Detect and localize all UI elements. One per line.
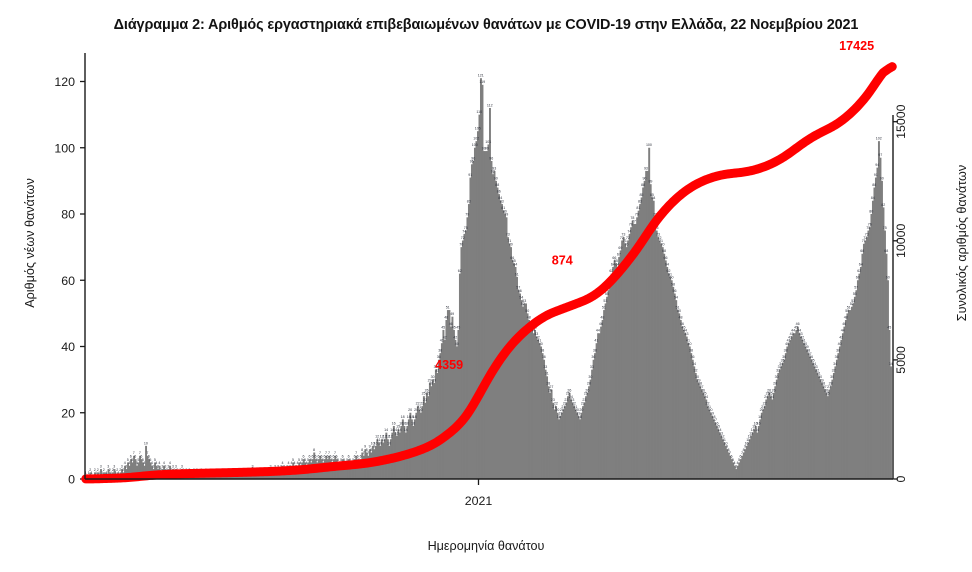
bar-value-label: 4 [169,461,171,465]
bar-value-label: 26 [567,388,571,392]
bar-value-label: 16 [757,421,761,425]
bar-value-label: 24 [704,395,708,399]
bar-value-label: 32 [832,368,836,372]
bar-value-label: 20 [419,408,423,412]
bar-value-label: 38 [689,349,693,353]
bar-value-label: 25 [426,392,430,396]
bar-value-label: 36 [782,355,786,359]
bar-value-label: 4 [128,461,130,465]
bar-value-label: 34 [889,362,893,366]
bar-value-label: 67 [617,252,621,256]
bar-value-label: 56 [672,289,676,293]
bar-value-label: 42 [839,335,843,339]
bar-value-label: 18 [758,415,762,419]
bar-value-label: 6 [312,455,314,459]
bar-value-label: 43 [684,332,688,336]
bar-value-label: 34 [833,362,837,366]
bar-value-label: 48 [444,315,448,319]
bar-value-label: 68 [860,249,864,253]
bar-value-label: 10 [144,441,148,445]
bar-value-label: 77 [632,219,636,223]
bar-value-label: 30 [830,375,834,379]
bar-value-label: 28 [587,382,591,386]
bar-value-label: 3 [152,464,154,468]
bar-value-label: 74 [627,229,631,233]
bar-value-label: 88 [641,183,645,187]
bar-value-label: 105 [475,127,481,131]
bar-value-label: 53 [522,299,526,303]
bar-value-label: 14 [404,428,408,432]
bar-value-label: 46 [796,322,800,326]
bar-value-label: 72 [626,236,630,240]
x-axis-ticks: 2021 [465,479,493,508]
y-tick-label-left: 20 [61,406,75,420]
bar-value-label: 81 [636,206,640,210]
bar-value-label: 22 [554,402,558,406]
bar-value-label: 18 [401,415,405,419]
bar-value-label: 6 [360,455,362,459]
y-tick-label-right: 5000 [894,346,908,374]
bar-value-label: 91 [468,173,472,177]
bar-value-label: 69 [618,246,622,250]
bar-value-label: 80 [869,209,873,213]
bar-value-label: 100 [646,143,652,147]
bar-value-label: 50 [677,309,681,313]
bar-value-label: 70 [459,243,463,247]
bar-value-label: 48 [600,315,604,319]
bar-value-label: 14 [398,428,402,432]
bar-value-label: 34 [692,362,696,366]
bar-value-label: 16 [392,421,396,425]
bar-value-label: 84 [651,196,655,200]
bar-value-label: 64 [859,262,863,266]
bar-value-label: 44 [841,329,845,333]
bar-value-label: 55 [853,292,857,296]
bar-value-label: 54 [674,296,678,300]
bar [890,366,892,479]
bar-value-label: 36 [835,355,839,359]
bar-value-label: 25 [826,392,830,396]
bar-value-label: 90 [880,176,884,180]
bar-value-label: 60 [886,276,890,280]
bar-value-label: 48 [844,315,848,319]
bar-value-label: 42 [453,335,457,339]
bar-value-label: 38 [836,349,840,353]
bar-value-label: 79 [635,213,639,217]
bar-value-label: 76 [868,223,872,227]
bar-value-label: 46 [842,322,846,326]
bar-value-label: 20 [408,408,412,412]
bar-value-label: 86 [497,190,501,194]
bar-value-label: 14 [755,428,759,432]
y-tick-label-right: 15000 [894,104,908,139]
bar-value-label: 46 [599,322,603,326]
bar-value-label: 57 [854,286,858,290]
bar-value-label: 72 [461,236,465,240]
bar-value-label: 45 [887,325,891,329]
bar-value-label: 24 [770,395,774,399]
bar-value-label: 23 [564,398,568,402]
chart-container: Διάγραμμα 2: Αριθμός εργαστηριακά επιβεβ… [0,0,972,572]
bar-value-label: 73 [621,233,625,237]
bar-value-label: 88 [872,183,876,187]
bar-value-label: 14 [384,428,388,432]
bar-value-label: 73 [865,233,869,237]
bar-value-label: 64 [665,262,669,266]
y-tick-label-left: 60 [61,274,75,288]
bar-value-label: 18 [413,415,417,419]
bar-value-label: 3 [100,464,102,468]
bar-value-label: 16 [405,421,409,425]
bar-value-label: 119 [479,80,485,84]
bar-value-label: 53 [851,299,855,303]
bar-value-label: 70 [660,243,664,247]
bar-series [85,78,893,479]
bar-value-label: 90 [642,176,646,180]
bar-value-label: 33 [543,365,547,369]
y-axis-right-ticks: 050001000015000 [893,104,908,482]
bar-value-label: 31 [545,372,549,376]
bar-value-label: 50 [525,309,529,313]
bar-value-label: 40 [539,342,543,346]
bar-value-label: 33 [590,365,594,369]
cumulative-annotation: 874 [552,254,573,268]
bar-value-label: 45 [452,325,456,329]
chart-plot-area: 020406080100120 050001000015000 11212121… [0,0,972,572]
bar-value-label: 48 [678,315,682,319]
bar-value-label: 55 [605,292,609,296]
bar-value-label: 110 [476,110,482,114]
y-tick-label-left: 0 [68,473,75,487]
bar-value-label: 51 [446,305,450,309]
bar-value-label: 51 [602,305,606,309]
bar-value-label: 112 [487,103,493,107]
bar-value-label: 60 [669,276,673,280]
bar-value-label: 40 [688,342,692,346]
bar-value-label: 83 [638,199,642,203]
bar-value-label: 96 [471,156,475,160]
bar-value-label: 91 [874,173,878,177]
cumulative-annotation: 17425 [839,39,874,53]
bar-value-label: 3 [113,464,115,468]
bar-value-label: 64 [513,262,517,266]
bar-value-label: 93 [644,166,648,170]
cumulative-annotation: 4359 [435,358,463,372]
bar-value-label: 36 [591,355,595,359]
bar-value-label: 22 [763,402,767,406]
bar-value-label: 44 [596,329,600,333]
bar-value-label: 36 [691,355,695,359]
bar-value-label: 18 [578,415,582,419]
bar-value-label: 20 [579,408,583,412]
bar-value-label: 70 [624,243,628,247]
bar-value-label: 28 [829,382,833,386]
bar-value-label: 66 [663,256,667,260]
bar-value-label: 7 [367,451,369,455]
bar-value-label: 30 [588,375,592,379]
bar-value-label: 45 [441,325,445,329]
y-tick-label-left: 100 [54,141,75,155]
bar-value-label: 2 [103,468,105,472]
bar-value-label: 96 [489,156,493,160]
bar-value-label: 45 [456,325,460,329]
bar-value-label: 83 [467,199,471,203]
bar-value-label: 49 [450,312,454,316]
bar-value-label: 38 [593,349,597,353]
bar-value-label: 82 [881,203,885,207]
bar-value-label: 29 [432,378,436,382]
bar-value-label: 7 [363,451,365,455]
y-tick-label-right: 10000 [894,223,908,258]
x-tick-label: 2021 [465,494,493,508]
bar-value-label: 53 [603,299,607,303]
bar-value-label: 5 [131,458,133,462]
bar-value-label: 48 [527,315,531,319]
bar-value-label: 70 [509,243,513,247]
bar-value-label: 73 [506,233,510,237]
bar-value-label: 99 [485,146,489,150]
bar-value-label: 58 [671,282,675,286]
bar-value-label: 41 [594,339,598,343]
y-axis-left-ticks: 020406080100120 [54,75,85,487]
bar-value-label: 102 [473,137,479,141]
bar-value-label: 68 [662,249,666,253]
bar-value-label: 38 [540,349,544,353]
bar-value-label: 8 [313,448,315,452]
bar-value-label: 88 [495,183,499,187]
bar-value-label: 84 [871,196,875,200]
y-tick-label-left: 120 [54,75,75,89]
bar-value-label: 36 [542,355,546,359]
bar-value-label: 28 [773,382,777,386]
bar-value-label: 38 [784,349,788,353]
bar-value-label: 40 [838,342,842,346]
bar-value-label: 26 [772,388,776,392]
bar-value-label: 23 [423,398,427,402]
bar-value-label: 12 [389,435,393,439]
bar-value-label: 68 [884,249,888,253]
bar-value-label: 38 [438,349,442,353]
y-tick-label-left: 80 [61,208,75,222]
bar-value-label: 79 [465,213,469,217]
bar-value-label: 27 [549,385,553,389]
y-tick-label-left: 40 [61,340,75,354]
bar-value-label: 101 [485,140,491,144]
bar-value-label: 4 [143,461,145,465]
bar-value-label: 8 [370,448,372,452]
bar-value-label: 32 [694,368,698,372]
bar-value-label: 93 [492,166,496,170]
bar-value-label: 5 [137,458,139,462]
bar-value-label: 16 [411,421,415,425]
y-tick-label-right: 0 [894,475,908,482]
bar-value-label: 4 [158,461,160,465]
bar-value-label: 90 [494,176,498,180]
bar-value-label: 62 [458,269,462,273]
bar-value-label: 30 [775,375,779,379]
bar-value-label: 121 [478,74,484,78]
bar-value-label: 85 [639,193,643,197]
bar-value-label: 56 [518,289,522,293]
bar-value-label: 94 [875,163,879,167]
bar-value-label: 75 [464,226,468,230]
bar-value-label: 10 [387,441,391,445]
bar-value-label: 26 [585,388,589,392]
bar-value-label: 3 [125,464,127,468]
bar-value-label: 23 [582,398,586,402]
bar-value-label: 75 [883,226,887,230]
bar-value-label: 100 [472,143,478,147]
bar-value-label: 62 [857,269,861,273]
bar-value-label: 97 [878,153,882,157]
bar-value-label: 79 [504,213,508,217]
bar-value-label: 6 [134,455,136,459]
bar-value-label: 61 [515,272,519,276]
bar-value-label: 2 [122,468,124,472]
bar-value-label: 40 [455,342,459,346]
bar-value-label: 60 [856,276,860,280]
bar-value-label: 83 [500,199,504,203]
bar-value-label: 102 [876,137,882,141]
bar-value-label: 89 [648,180,652,184]
bar-value-label: 42 [443,335,447,339]
